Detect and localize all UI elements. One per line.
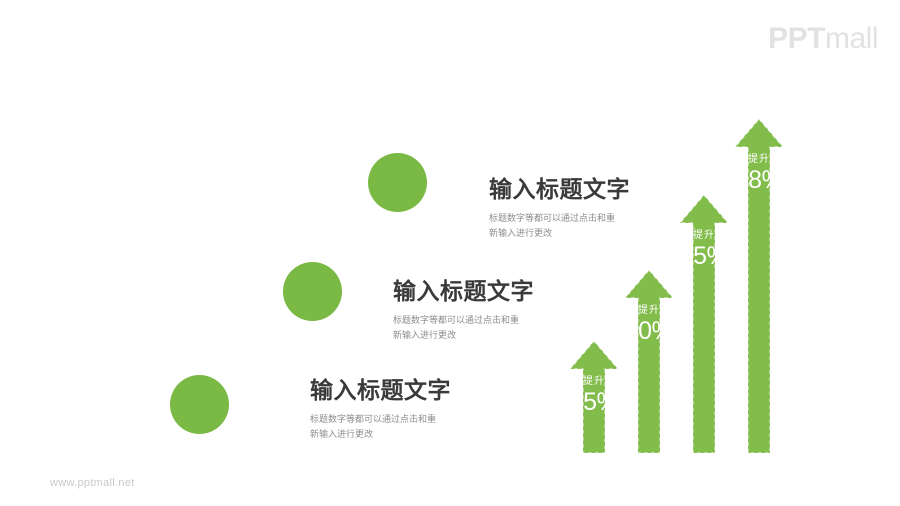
text-block-3-title: 输入标题文字 [310,377,451,403]
arrow-bar-4[interactable]: 提升 78% [733,117,785,455]
text-block-2-desc-line1: 标题数字等都可以通过点击和重 [393,313,534,328]
text-block-3-description: 标题数字等都可以通过点击和重 新输入进行更改 [310,412,451,442]
text-block-1: 输入标题文字 标题数字等都可以通过点击和重 新输入进行更改 [489,176,630,241]
arrow-up-icon-2 [623,268,675,455]
arrow-bar-3[interactable]: 提升 65% [678,193,730,455]
arrow-up-icon-3 [678,193,730,455]
text-block-3-desc-line2: 新输入进行更改 [310,427,451,442]
text-block-2-description: 标题数字等都可以通过点击和重 新输入进行更改 [393,313,534,343]
decor-circle-bottom [170,375,229,434]
text-block-2-desc-line2: 新输入进行更改 [393,328,534,343]
arrow-up-icon-1 [568,339,620,455]
arrow-bar-1[interactable]: 提升 25% [568,339,620,455]
text-block-2: 输入标题文字 标题数字等都可以通过点击和重 新输入进行更改 [393,278,534,343]
arrow-up-icon-4 [733,117,785,455]
text-block-3-desc-line1: 标题数字等都可以通过点击和重 [310,412,451,427]
text-block-2-title: 输入标题文字 [393,278,534,304]
footer-url: www.pptmall.net [50,477,135,489]
text-block-1-title: 输入标题文字 [489,176,630,202]
pptmall-logo: PPTmall [768,24,878,54]
slide-canvas: PPTmall 输入标题文字 标题数字等都可以通过点击和重 新输入进行更改 输入… [0,0,900,506]
text-block-1-desc-line1: 标题数字等都可以通过点击和重 [489,211,630,226]
logo-ppt-text: PPT [768,22,825,55]
text-block-3: 输入标题文字 标题数字等都可以通过点击和重 新输入进行更改 [310,377,451,442]
logo-mall-text: mall [825,22,878,55]
arrow-bar-2[interactable]: 提升 40% [623,268,675,455]
decor-circle-top [368,153,427,212]
text-block-1-description: 标题数字等都可以通过点击和重 新输入进行更改 [489,211,630,241]
decor-circle-middle [283,262,342,321]
text-block-1-desc-line2: 新输入进行更改 [489,226,630,241]
